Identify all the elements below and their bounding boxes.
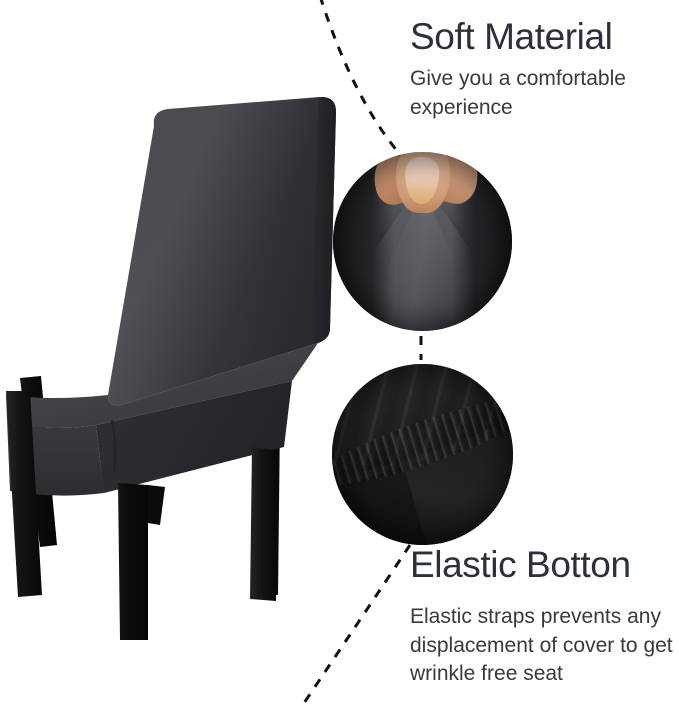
feature-text-soft-material: Soft Material Give you a comfortable exp… xyxy=(410,16,676,122)
connector-top-to-soft-circle xyxy=(320,0,398,152)
infographic-canvas: Soft Material Give you a comfortable exp… xyxy=(0,0,679,705)
feature-body-elastic-bottom: Elastic straps prevents any displacement… xyxy=(410,603,676,687)
feature-text-elastic-bottom: Elastic Botton Elastic straps prevents a… xyxy=(410,544,676,688)
elastic-hem-photo xyxy=(332,364,513,545)
feature-heading-soft-material: Soft Material xyxy=(410,16,676,57)
feature-heading-elastic-bottom: Elastic Botton xyxy=(410,544,676,585)
detail-circle-soft-material xyxy=(333,152,512,331)
connector-elastic-circle-to-bottom xyxy=(300,545,410,705)
detail-circle-elastic-bottom xyxy=(332,364,513,545)
fabric-pinch-photo xyxy=(333,152,512,331)
feature-body-soft-material: Give you a comfortable experience xyxy=(410,65,676,121)
